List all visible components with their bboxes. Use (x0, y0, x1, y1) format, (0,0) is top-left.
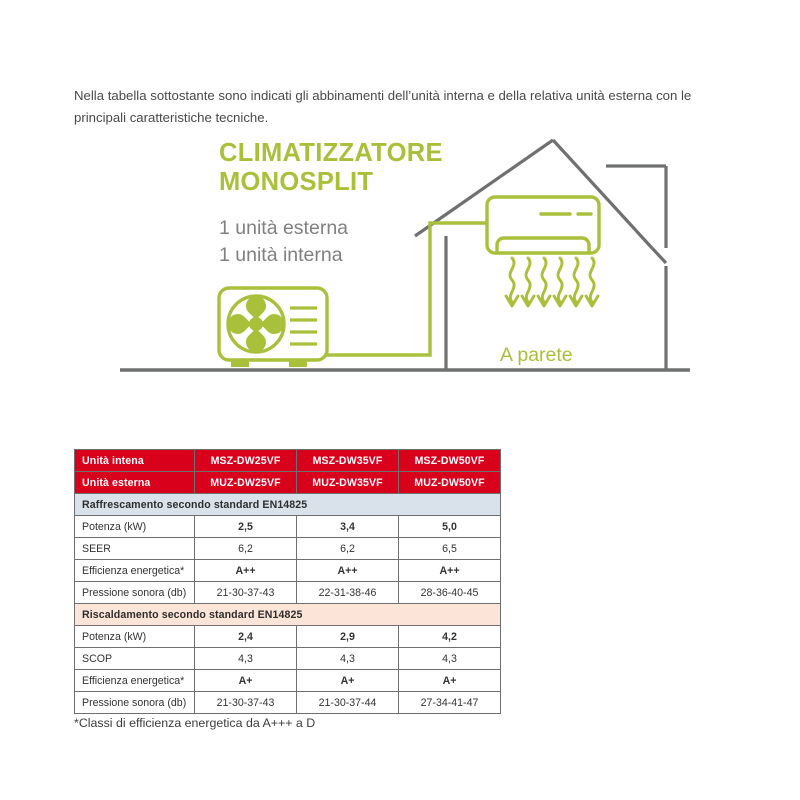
header-model-outdoor-3: MUZ-DW50VF (399, 472, 501, 494)
row-value: A+ (399, 670, 501, 692)
illustration-svg: CLIMATIZZATORE MONOSPLIT 1 unità esterna… (0, 128, 800, 388)
row-value: 2,5 (195, 516, 297, 538)
row-value: A++ (297, 560, 399, 582)
row-label: Efficienza energetica* (75, 560, 195, 582)
row-value: A+ (297, 670, 399, 692)
indoor-wall-unit-icon (487, 197, 599, 253)
header-model-indoor-3: MSZ-DW50VF (399, 450, 501, 472)
row-value: 2,9 (297, 626, 399, 648)
row-value: 5,0 (399, 516, 501, 538)
illustration-caption: A parete (500, 344, 573, 366)
row-value: 21-30-37-43 (195, 692, 297, 714)
table-row: Pressione sonora (db) 21-30-37-43 21-30-… (75, 692, 501, 714)
row-label: SEER (75, 538, 195, 560)
intro-paragraph: Nella tabella sottostante sono indicati … (74, 85, 719, 128)
airflow-arrows-icon (506, 258, 598, 306)
row-label: Pressione sonora (db) (75, 692, 195, 714)
house-icon (120, 140, 690, 370)
row-value: 4,3 (195, 648, 297, 670)
row-label: Efficienza energetica* (75, 670, 195, 692)
section-band-cooling: Raffrescamento secondo standard EN14825 (75, 494, 501, 516)
header-label-outdoor: Unità esterna (75, 472, 195, 494)
table-row: Potenza (kW) 2,5 3,4 5,0 (75, 516, 501, 538)
header-label-indoor: Unità intena (75, 450, 195, 472)
outdoor-unit-foot-right (289, 360, 307, 367)
header-model-outdoor-1: MUZ-DW25VF (195, 472, 297, 494)
illustration-title-line1: CLIMATIZZATORE (219, 139, 443, 167)
row-value: 21-30-37-44 (297, 692, 399, 714)
table-row: Pressione sonora (db) 21-30-37-43 22-31-… (75, 582, 501, 604)
row-value: 6,2 (195, 538, 297, 560)
refrigerant-pipe-icon (325, 223, 487, 355)
table-header-row-outdoor: Unità esterna MUZ-DW25VF MUZ-DW35VF MUZ-… (75, 472, 501, 494)
table-body: Unità intena MSZ-DW25VF MSZ-DW35VF MSZ-D… (75, 450, 501, 714)
row-value: 27-34-41-47 (399, 692, 501, 714)
row-value: A++ (399, 560, 501, 582)
row-label: Potenza (kW) (75, 626, 195, 648)
row-value: 2,4 (195, 626, 297, 648)
monosplit-illustration: CLIMATIZZATORE MONOSPLIT 1 unità esterna… (0, 128, 800, 388)
outdoor-unit-icon (219, 288, 327, 367)
outdoor-unit-foot-left (231, 360, 249, 367)
footnote-energy-classes: *Classi di efficienza energetica da A+++… (74, 716, 315, 730)
section-band-row-heating: Riscaldamento secondo standard EN14825 (75, 604, 501, 626)
row-value: 4,3 (399, 648, 501, 670)
table-row: SCOP 4,3 4,3 4,3 (75, 648, 501, 670)
section-band-heating: Riscaldamento secondo standard EN14825 (75, 604, 501, 626)
row-value: 22-31-38-46 (297, 582, 399, 604)
row-value: A++ (195, 560, 297, 582)
row-label: SCOP (75, 648, 195, 670)
header-model-outdoor-2: MUZ-DW35VF (297, 472, 399, 494)
row-value: 3,4 (297, 516, 399, 538)
row-value: 6,2 (297, 538, 399, 560)
table-header-row-indoor: Unità intena MSZ-DW25VF MSZ-DW35VF MSZ-D… (75, 450, 501, 472)
row-label: Pressione sonora (db) (75, 582, 195, 604)
header-model-indoor-1: MSZ-DW25VF (195, 450, 297, 472)
table-row: Efficienza energetica* A+ A+ A+ (75, 670, 501, 692)
table-row: Potenza (kW) 2,4 2,9 4,2 (75, 626, 501, 648)
header-model-indoor-2: MSZ-DW35VF (297, 450, 399, 472)
illustration-subtitle-line1: 1 unità esterna (219, 217, 348, 239)
section-band-row-cooling: Raffrescamento secondo standard EN14825 (75, 494, 501, 516)
illustration-subtitle-line2: 1 unità interna (219, 244, 343, 266)
row-value: 4,3 (297, 648, 399, 670)
row-value: A+ (195, 670, 297, 692)
illustration-title-line2: MONOSPLIT (219, 168, 373, 196)
row-label: Potenza (kW) (75, 516, 195, 538)
table-row: Efficienza energetica* A++ A++ A++ (75, 560, 501, 582)
row-value: 21-30-37-43 (195, 582, 297, 604)
row-value: 4,2 (399, 626, 501, 648)
row-value: 28-36-40-45 (399, 582, 501, 604)
table-row: SEER 6,2 6,2 6,5 (75, 538, 501, 560)
page-root: Nella tabella sottostante sono indicati … (0, 0, 800, 800)
specifications-table: Unità intena MSZ-DW25VF MSZ-DW35VF MSZ-D… (74, 449, 501, 714)
row-value: 6,5 (399, 538, 501, 560)
